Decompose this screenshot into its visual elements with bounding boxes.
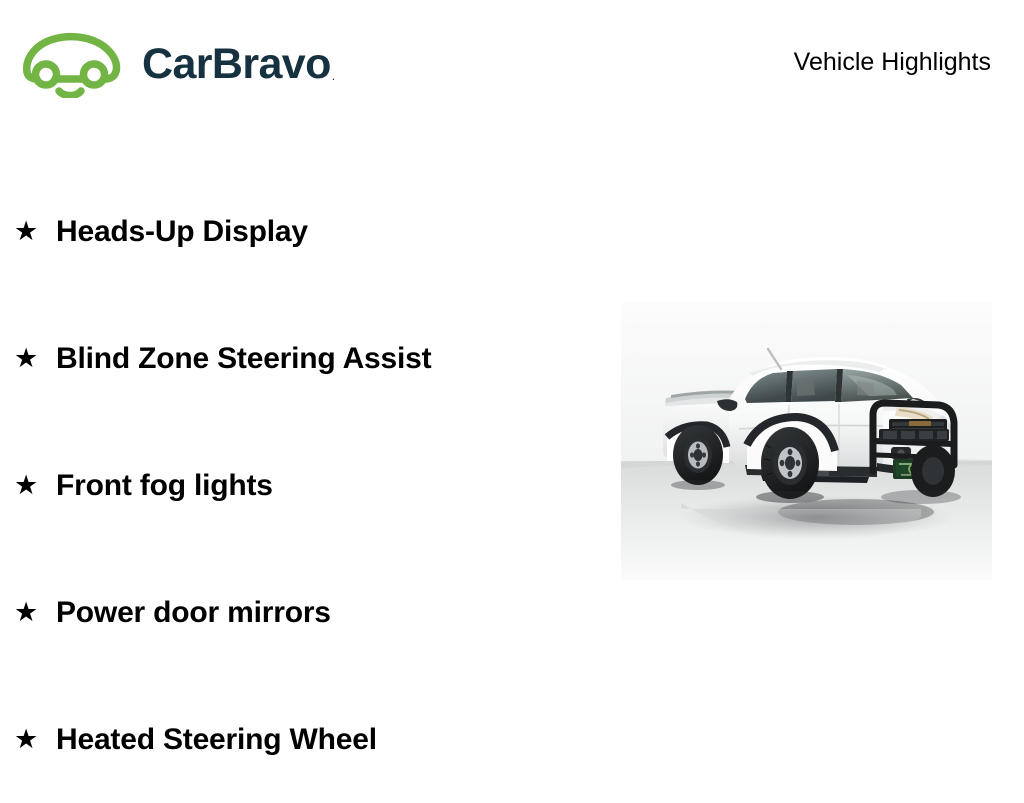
star-icon: ★ — [14, 599, 56, 626]
star-icon: ★ — [14, 345, 56, 372]
star-icon: ★ — [14, 726, 56, 753]
brand-name-text: CarBravo — [142, 40, 331, 88]
list-item: ★ Power door mirrors — [0, 549, 620, 676]
brand-wordmark: CarBravo. — [142, 43, 334, 86]
highlight-label: Front fog lights — [56, 470, 273, 502]
list-item: ★ Front fog lights — [0, 422, 620, 549]
page-header: CarBravo. Vehicle Highlights — [0, 0, 1024, 130]
list-item: ★ Heads-Up Display — [0, 168, 620, 295]
highlight-label: Blind Zone Steering Assist — [56, 343, 431, 375]
vehicle-highlights-list: ★ Heads-Up Display ★ Blind Zone Steering… — [0, 168, 620, 803]
brand-logo[interactable]: CarBravo. — [18, 30, 334, 98]
star-icon: ★ — [14, 218, 56, 245]
car-outline-icon — [18, 30, 132, 98]
highlight-label: Heated Steering Wheel — [56, 724, 377, 756]
highlight-label: Power door mirrors — [56, 597, 331, 629]
list-item: ★ Blind Zone Steering Assist — [0, 295, 620, 422]
vehicle-photo — [621, 303, 992, 580]
list-item: ★ Heated Steering Wheel — [0, 676, 620, 803]
trademark-mark: . — [332, 69, 335, 83]
highlight-label: Heads-Up Display — [56, 216, 308, 248]
star-icon: ★ — [14, 472, 56, 499]
page-title: Vehicle Highlights — [794, 50, 991, 75]
